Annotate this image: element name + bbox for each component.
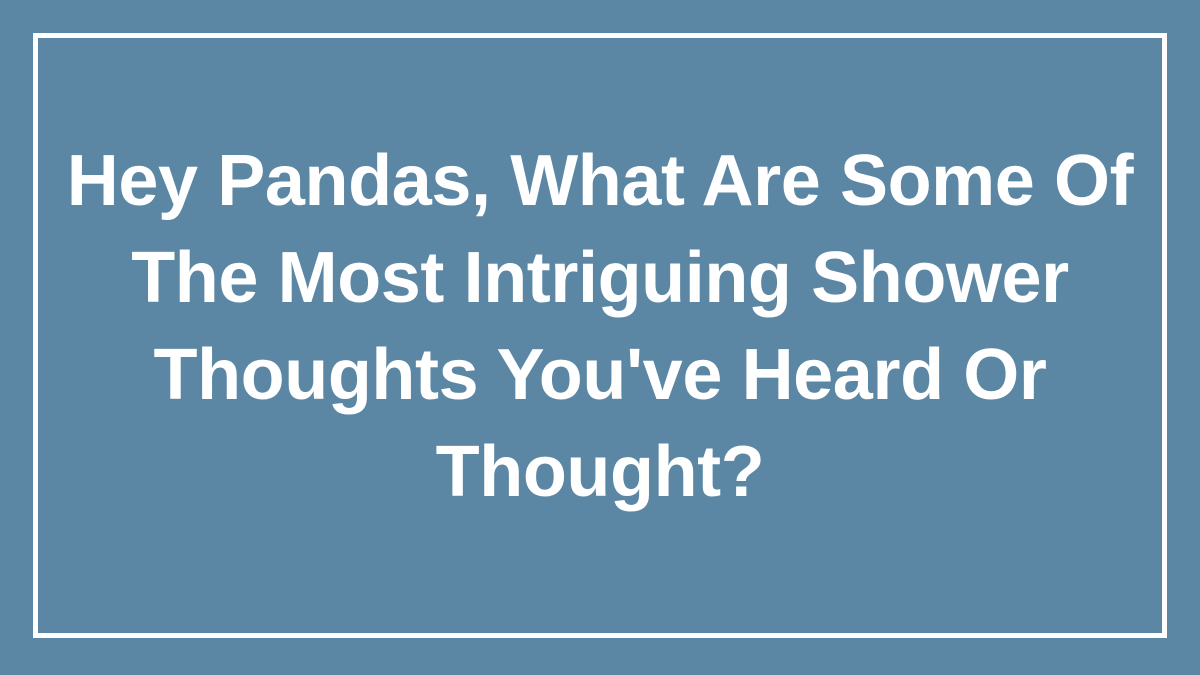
poster-card: Hey Pandas, What Are Some Of The Most In…	[0, 0, 1200, 675]
poster-title-block: Hey Pandas, What Are Some Of The Most In…	[60, 0, 1140, 675]
page-title: Hey Pandas, What Are Some Of The Most In…	[60, 133, 1140, 521]
